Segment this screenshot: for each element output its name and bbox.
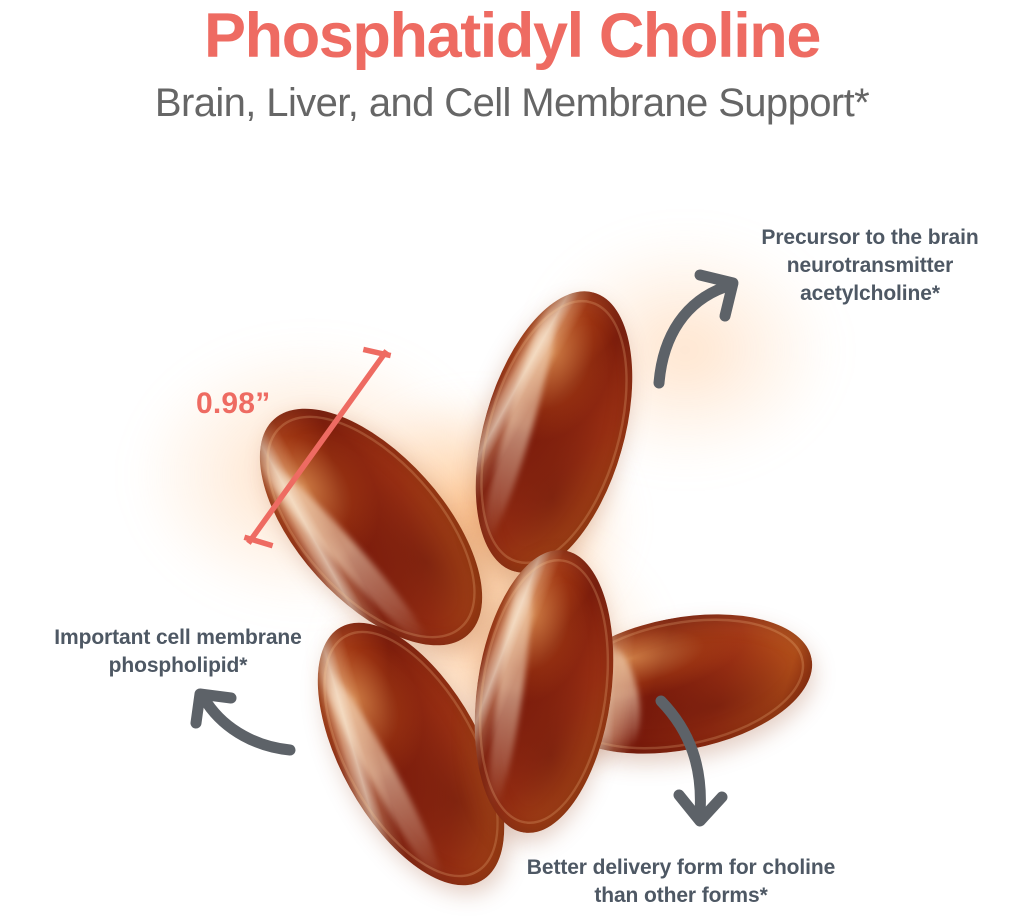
callout-delivery: Better delivery form for choline than ot…: [456, 854, 906, 910]
header: Phosphatidyl Choline Brain, Liver, and C…: [0, 0, 1024, 125]
callout-precursor: Precursor to the brain neurotransmitter …: [716, 224, 1024, 308]
page-subtitle: Brain, Liver, and Cell Membrane Support*: [0, 70, 1024, 125]
curved-arrow-down-icon: [661, 701, 722, 821]
callout-phospholipid: Important cell membrane phospholipid*: [0, 624, 356, 680]
page-title: Phosphatidyl Choline: [0, 0, 1024, 70]
product-infographic: Phosphatidyl Choline Brain, Liver, and C…: [0, 0, 1024, 918]
product-photo: 0.98” Precursor to the brain neurotransm…: [0, 175, 1024, 918]
curved-arrow-up-left-icon: [196, 694, 290, 750]
